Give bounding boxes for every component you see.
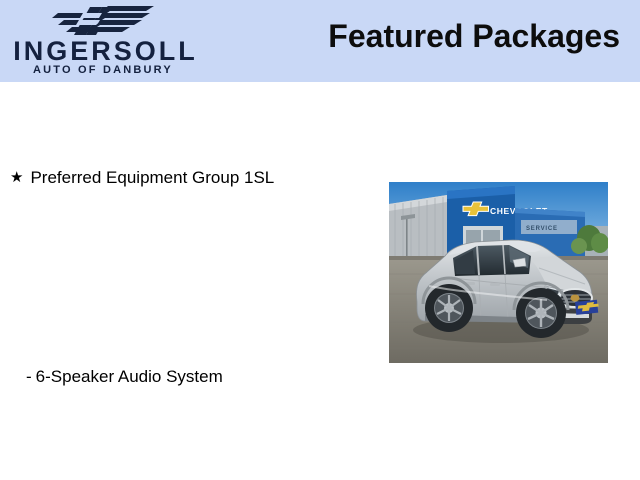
- ingersoll-winged-emblem-icon: [50, 2, 160, 38]
- feature-primary-label: Preferred Equipment Group 1SL: [30, 168, 274, 187]
- dealer-logo: INGERSOLL AUTO OF DANBURY: [0, 0, 210, 82]
- vehicle-photo: CHEVROLET SERVICE: [389, 182, 608, 363]
- dash-bullet-icon: -: [26, 367, 36, 387]
- header-band: INGERSOLL AUTO OF DANBURY Featured Packa…: [0, 0, 640, 82]
- star-bullet-icon: ★: [10, 169, 30, 186]
- dealer-wordmark: INGERSOLL: [8, 38, 203, 64]
- feature-item-primary: ★Preferred Equipment Group 1SL: [10, 168, 274, 188]
- feature-item-sub: -6-Speaker Audio System: [26, 367, 223, 387]
- page-title: Featured Packages: [328, 18, 620, 55]
- svg-text:SERVICE: SERVICE: [526, 226, 558, 232]
- feature-sub-label: 6-Speaker Audio System: [36, 367, 223, 386]
- slide-content: ★Preferred Equipment Group 1SL -6-Speake…: [0, 82, 640, 480]
- dealer-tagline: AUTO OF DANBURY: [8, 64, 198, 77]
